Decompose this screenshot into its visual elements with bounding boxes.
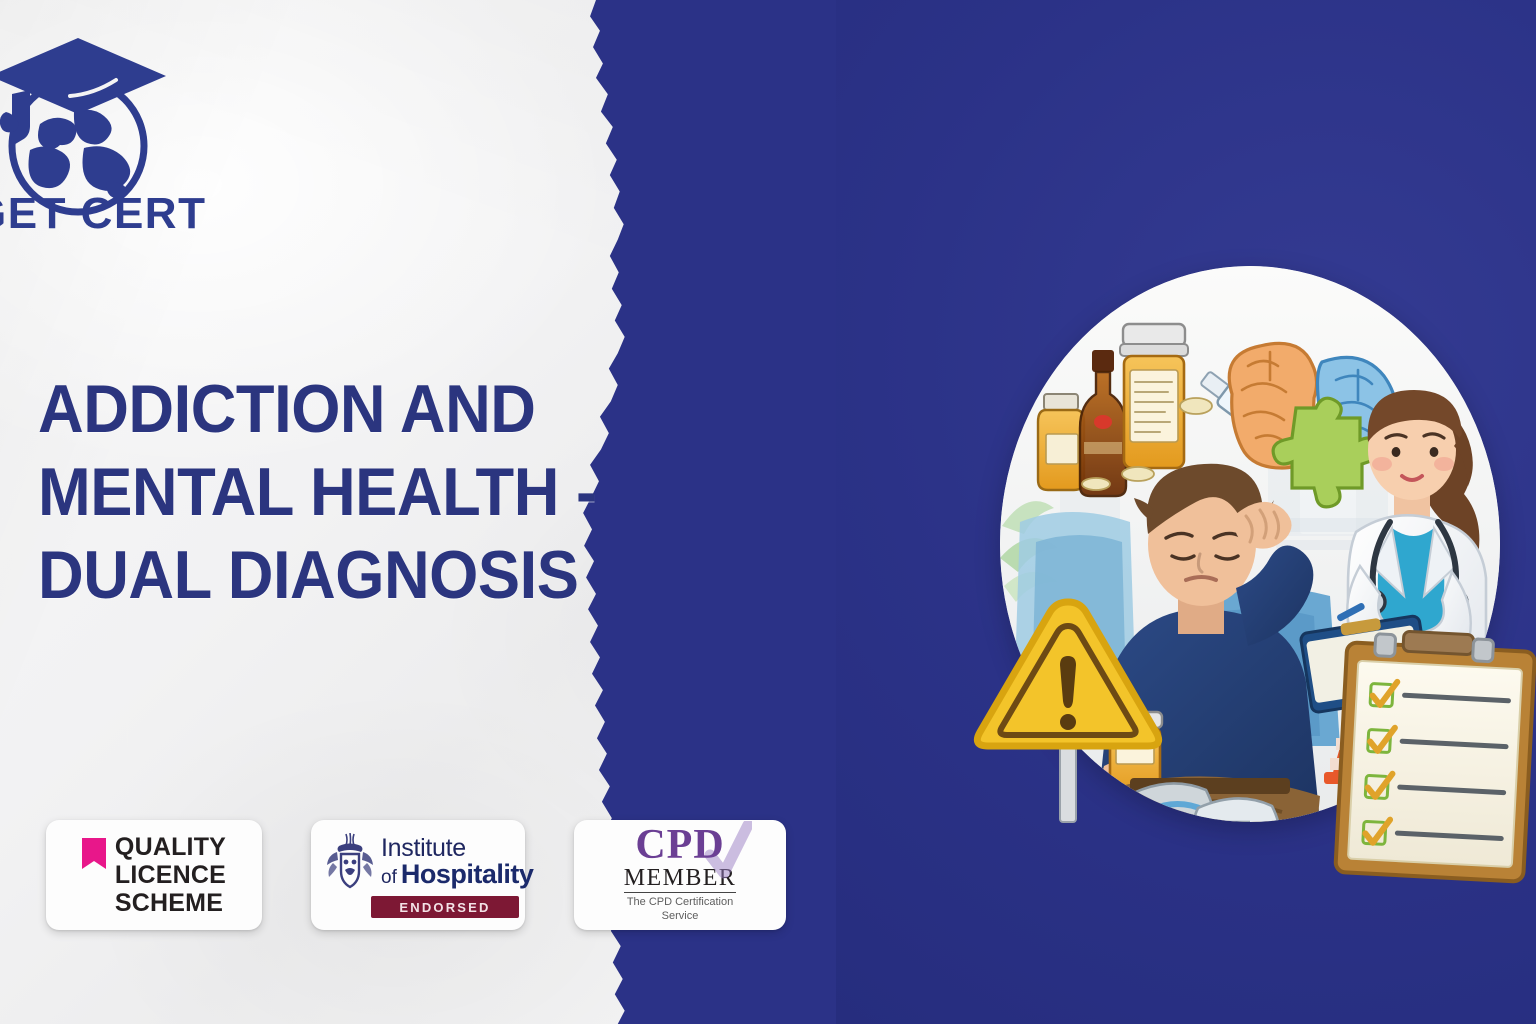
ioh-of-text: of bbox=[381, 868, 397, 887]
title-line-3: DUAL DIAGNOSIS bbox=[38, 534, 615, 617]
illustration bbox=[1000, 266, 1500, 822]
accreditation-badges: QUALITY LICENCE SCHEME bbox=[46, 820, 786, 930]
cpd-subtitle: The CPD Certification Service bbox=[586, 896, 774, 924]
ioh-hospitality-text: Hospitality bbox=[401, 861, 534, 888]
badge-institute-of-hospitality[interactable]: Institute of Hospitality ENDORSED bbox=[311, 820, 525, 930]
illustration-foreground bbox=[1000, 266, 1500, 822]
badge-cpd-member[interactable]: CPD MEMBER The CPD Certification Service bbox=[574, 820, 786, 930]
checklist-clipboard-icon bbox=[1335, 628, 1536, 882]
cpd-letters: CPD bbox=[586, 826, 774, 866]
title-line-1: ADDICTION AND bbox=[38, 368, 615, 451]
page-title: ADDICTION AND MENTAL HEALTH - DUAL DIAGN… bbox=[38, 368, 615, 617]
heraldic-crest-icon bbox=[325, 833, 375, 891]
bookmark-icon bbox=[82, 838, 106, 869]
badge-quality-licence-scheme[interactable]: QUALITY LICENCE SCHEME bbox=[46, 820, 262, 930]
get-certify-logo[interactable]: GET CERTIFY bbox=[0, 28, 208, 238]
warning-triangle-sign-icon bbox=[977, 602, 1158, 822]
qls-line-2: LICENCE bbox=[115, 861, 226, 889]
cpd-sub-line-2: Service bbox=[586, 910, 774, 924]
logo-wordmark: GET CERTIFY bbox=[0, 189, 208, 238]
ioh-endorsed-ribbon: ENDORSED bbox=[371, 896, 519, 918]
qls-text-block: QUALITY LICENCE SCHEME bbox=[115, 833, 226, 918]
ioh-institute-text: Institute bbox=[381, 836, 533, 861]
qls-line-1: QUALITY bbox=[115, 833, 226, 861]
qls-line-3: SCHEME bbox=[115, 889, 226, 917]
title-line-2: MENTAL HEALTH - bbox=[38, 451, 615, 534]
banner-canvas: GET CERTIFY ADDICTION AND MENTAL HEALTH … bbox=[0, 0, 1536, 1024]
cpd-sub-line-1: The CPD Certification bbox=[586, 896, 774, 910]
